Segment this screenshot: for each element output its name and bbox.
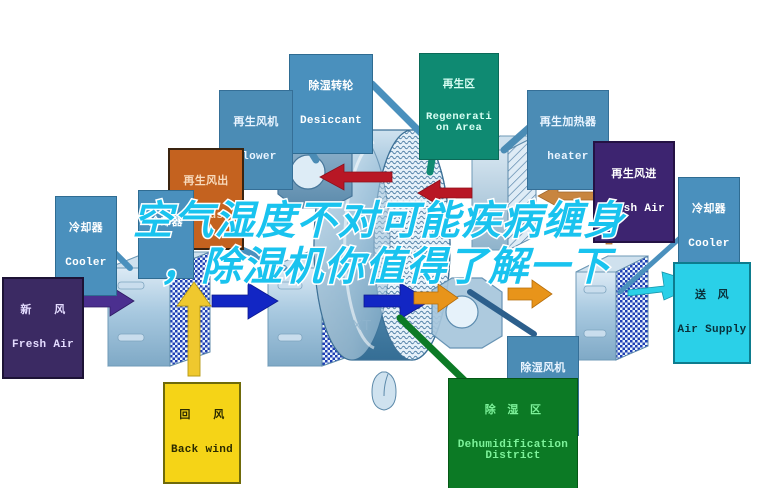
label-regeneration-area-en: Regenerati on Area <box>422 112 496 134</box>
label-fresh-air-left-cn: 新 风 <box>6 305 80 317</box>
label-fresh-air-left-en: Fresh Air <box>6 340 80 352</box>
watermark-text: XT <box>352 317 371 334</box>
label-dehumidification-district-en: Dehumidification District <box>451 440 575 463</box>
label-cooler-left-en: Cooler <box>58 258 114 270</box>
label-dehumidification-district[interactable]: 除 湿 区 Dehumidification District <box>448 378 578 488</box>
label-air-supply[interactable]: 送 风 Air Supply <box>673 262 751 364</box>
label-cooler-right-cn: 冷却器 <box>681 204 737 216</box>
label-cooler-middle-cn: 冷却器 <box>141 217 191 229</box>
label-cooler-middle[interactable]: 冷却器 <box>138 190 194 279</box>
label-exhaust-cn: 再生风出 <box>172 176 240 188</box>
label-desiccant-en: Desiccant <box>292 116 370 128</box>
label-air-supply-en: Air Supply <box>677 325 747 337</box>
label-back-wind-en: Back wind <box>167 445 237 457</box>
label-desiccant[interactable]: 除湿转轮 Desiccant <box>289 54 373 154</box>
label-dehumidification-blower-cn: 除湿风机 <box>510 363 576 375</box>
label-regeneration-fresh-air-cn: 再生风进 <box>597 169 671 181</box>
label-cooler-right-en: Cooler <box>681 239 737 251</box>
label-regeneration-heater-cn: 再生加热器 <box>530 117 606 129</box>
label-dehumidification-district-cn: 除 湿 区 <box>451 405 575 417</box>
label-back-wind[interactable]: 回 风 Back wind <box>163 382 241 484</box>
label-regeneration-fresh-air-en: Fresh Air <box>597 204 671 216</box>
label-regeneration-fresh-air[interactable]: 再生风进 Fresh Air <box>593 141 675 243</box>
label-fresh-air-left[interactable]: 新 风 Fresh Air <box>2 277 84 379</box>
label-air-supply-cn: 送 风 <box>677 290 747 302</box>
dehumidifier-diagram: XT <box>0 0 757 488</box>
label-regeneration-area-cn: 再生区 <box>422 79 496 90</box>
supply-filter-unit <box>576 256 648 360</box>
label-regeneration-area[interactable]: 再生区 Regenerati on Area <box>419 53 499 160</box>
label-back-wind-cn: 回 风 <box>167 410 237 422</box>
label-cooler-left-cn: 冷却器 <box>58 223 114 235</box>
label-regeneration-blower-cn: 再生风机 <box>222 117 290 129</box>
label-desiccant-cn: 除湿转轮 <box>292 81 370 93</box>
blower-out-arrow <box>508 280 552 308</box>
